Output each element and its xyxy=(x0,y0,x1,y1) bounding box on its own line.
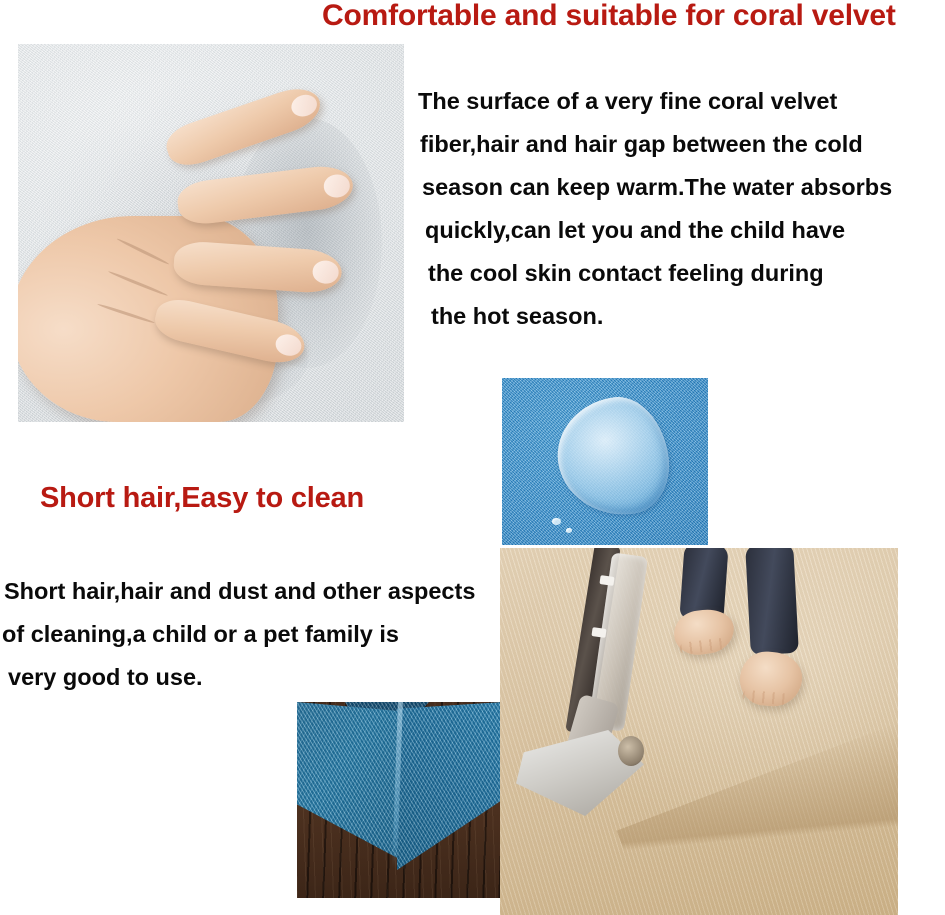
copy-line: quickly,can let you and the child have xyxy=(418,209,892,252)
vacuum-clip xyxy=(591,627,606,638)
copy-line: Short hair,hair and dust and other aspec… xyxy=(2,570,475,613)
copy-line: fiber,hair and hair gap between the cold xyxy=(418,123,892,166)
water-droplet-small xyxy=(566,528,572,533)
copy-line: the cool skin contact feeling during xyxy=(418,252,892,295)
photo-water-on-blue-velvet xyxy=(502,378,708,545)
cleaning-paragraph: Short hair,hair and dust and other aspec… xyxy=(2,570,475,699)
photo-blue-velvet-corner xyxy=(297,702,500,898)
fingernail xyxy=(288,91,320,120)
copy-line: season can keep warm.The water absorbs xyxy=(418,166,892,209)
cleaning-heading: Short hair,Easy to clean xyxy=(40,484,364,513)
copy-line: of cleaning,a child or a pet family is xyxy=(2,613,475,656)
person-leg-right xyxy=(745,548,799,655)
vacuum-clip xyxy=(599,575,614,586)
fingernail xyxy=(312,260,339,284)
copy-line: the hot season. xyxy=(418,295,892,338)
copy-line: very good to use. xyxy=(2,656,475,699)
vacuum-wheel xyxy=(618,736,644,766)
fingernail xyxy=(273,332,303,359)
photo-hand-on-velvet xyxy=(18,44,404,422)
photo-vacuum-on-carpet xyxy=(500,548,898,915)
comfort-paragraph: The surface of a very fine coral velvet … xyxy=(418,80,892,338)
copy-line: The surface of a very fine coral velvet xyxy=(418,80,892,123)
comfort-heading: Comfortable and suitable for coral velve… xyxy=(322,1,896,31)
fingernail xyxy=(323,173,352,198)
water-droplet-small xyxy=(552,518,561,525)
